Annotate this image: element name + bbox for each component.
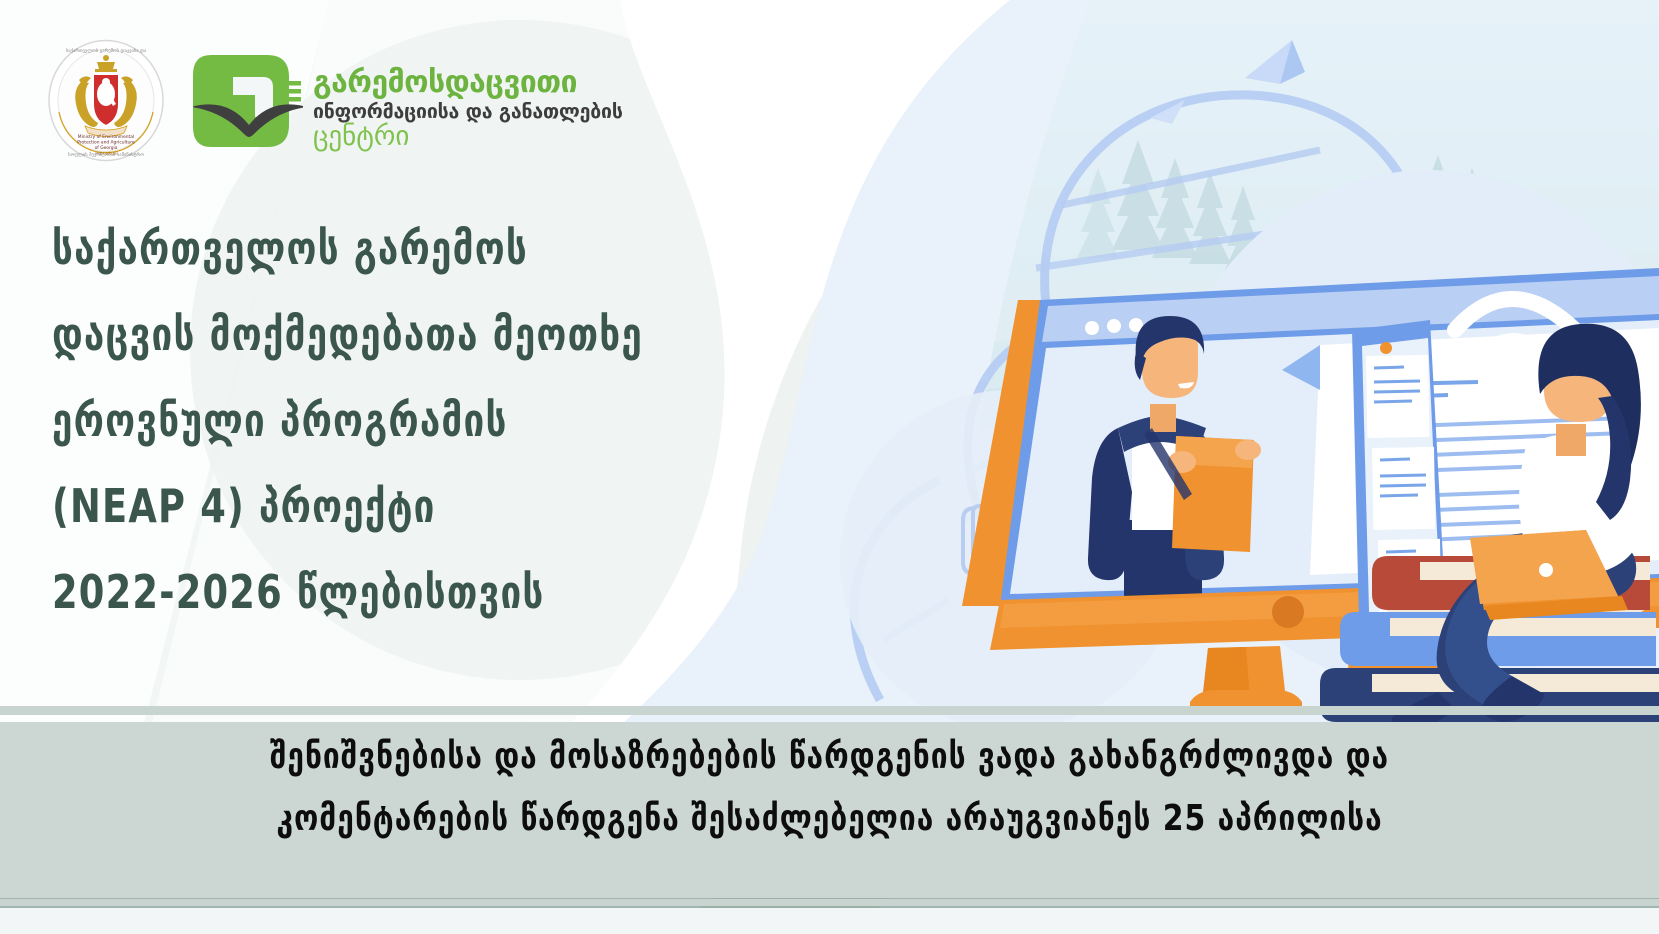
page-title: საქართველოს გარემოს დაცვის მოქმედებათა მ… (52, 205, 643, 635)
ministry-emblem-icon: საქართველოს გარემოს დაცვისა და სოფლის მე… (45, 38, 167, 163)
svg-text:of Georgia: of Georgia (95, 145, 118, 151)
environmental-information-and-education-centre-logo: გარემოსდაცვითი ინფორმაციისა და განათლები… (193, 49, 623, 152)
svg-text:Protection and Agriculture: Protection and Agriculture (77, 140, 135, 146)
logo-row: საქართველოს გარემოს დაცვისა და სოფლის მე… (45, 38, 623, 163)
banner-bottom-rule (0, 899, 1659, 906)
announcement-banner: შენიშვნებისა და მოსაზრებების წარდგენის ვ… (0, 698, 1659, 934)
headline-line-4: (NEAP 4) პროექტი (52, 463, 643, 549)
svg-text:mepa.gov.ge: mepa.gov.ge (95, 152, 117, 156)
logo-line-3: ცენტრი (313, 123, 623, 151)
banner-line-2: კომენტარების წარდგენა შესაძლებელია არაუგ… (141, 788, 1518, 850)
banner-top-rule (0, 706, 1659, 715)
headline-line-5: 2022-2026 წლებისთვის (52, 549, 643, 635)
headline-line-3: ეროვნული პროგრამის (52, 377, 643, 463)
svg-text:Ministry of Environmental: Ministry of Environmental (78, 134, 134, 140)
poster-canvas: საქართველოს გარემოს დაცვისა და სოფლის მე… (0, 0, 1659, 934)
logo-line-1: გარემოსდაცვითი (313, 68, 623, 99)
svg-text:საქართველოს გარემოს დაცვისა და: საქართველოს გარემოს დაცვისა და (66, 47, 147, 54)
headline-line-1: საქართველოს გარემოს (52, 205, 643, 291)
banner-text: შენიშვნებისა და მოსაზრებების წარდგენის ვ… (141, 726, 1518, 850)
headline-line-2: დაცვის მოქმედებათა მეოთხე (52, 291, 643, 377)
banner-line-1: შენიშვნებისა და მოსაზრებების წარდგენის ვ… (141, 726, 1518, 788)
banner-footer-strip (0, 908, 1659, 934)
logo-line-2: ინფორმაციისა და განათლების (313, 102, 623, 122)
open-book-logo-icon (193, 49, 303, 152)
